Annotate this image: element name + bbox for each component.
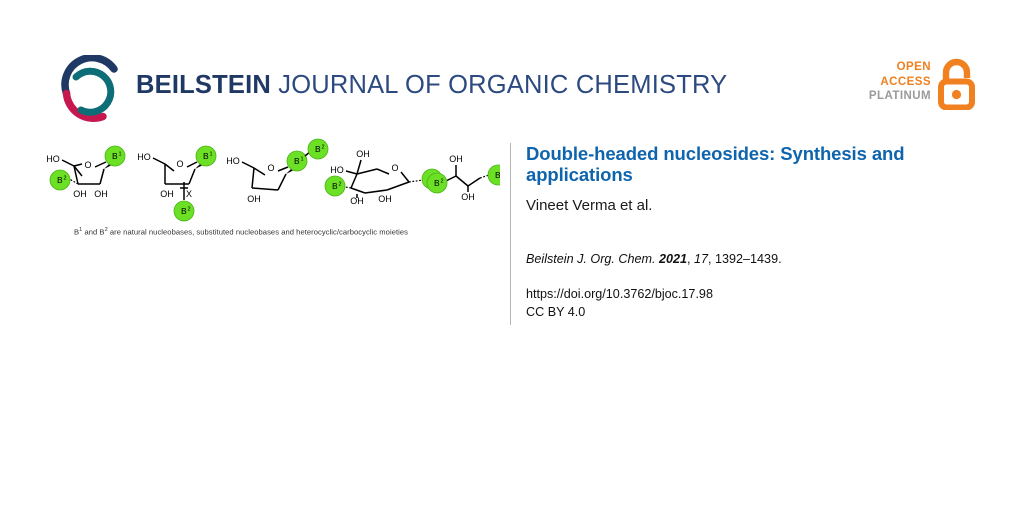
- svg-text:OH: OH: [94, 189, 108, 199]
- journal-title-light: JOURNAL OF ORGANIC CHEMISTRY: [271, 71, 727, 99]
- svg-text:2: 2: [339, 182, 342, 188]
- svg-text:OH: OH: [378, 194, 392, 204]
- svg-text:2: 2: [441, 179, 444, 185]
- svg-text:OH: OH: [160, 189, 174, 199]
- structure-ribose-2-3-double-headed: HO O OH OH B1 B2: [46, 146, 125, 199]
- graphical-abstract-caption: B1 and B2 are natural nucleobases, subst…: [74, 227, 504, 237]
- article-authors: Vineet Verma et al.: [526, 197, 986, 215]
- svg-text:2: 2: [188, 207, 191, 213]
- open-access-line-access: ACCESS: [869, 75, 931, 90]
- svg-text:OH: OH: [449, 154, 463, 164]
- article-title: Double-headed nucleosides: Synthesis and…: [526, 143, 986, 185]
- svg-text:2: 2: [322, 145, 325, 151]
- svg-text:HO: HO: [330, 165, 344, 175]
- svg-text:X: X: [186, 189, 192, 199]
- svg-text:B: B: [434, 178, 440, 188]
- article-meta: Double-headed nucleosides: Synthesis and…: [526, 143, 986, 334]
- svg-text:OH: OH: [356, 149, 370, 159]
- vertical-divider: [510, 143, 511, 325]
- citation-comma-1: ,: [687, 252, 691, 266]
- svg-text:B: B: [315, 144, 321, 154]
- svg-text:B: B: [112, 151, 118, 161]
- svg-text:B: B: [294, 156, 300, 166]
- open-access-badge: OPEN ACCESS PLATINUM: [872, 58, 977, 114]
- structure-pyranose-double-headed: OH HO O OH OH B2 B1: [325, 149, 442, 206]
- svg-text:B: B: [332, 181, 338, 191]
- svg-text:O: O: [84, 160, 91, 170]
- open-access-wordmark: OPEN ACCESS PLATINUM: [869, 60, 931, 104]
- article-doi-block: https://doi.org/10.3762/bjoc.17.98CC BY …: [526, 286, 986, 321]
- open-access-line-platinum: PLATINUM: [869, 89, 931, 104]
- svg-text:1: 1: [301, 157, 304, 163]
- open-access-line-open: OPEN: [869, 60, 931, 75]
- license-label: CC BY 4.0: [526, 304, 986, 322]
- svg-text:1: 1: [210, 152, 213, 158]
- svg-text:B: B: [203, 151, 209, 161]
- svg-text:O: O: [176, 159, 183, 169]
- svg-text:B: B: [181, 206, 187, 216]
- citation-volume: 17: [694, 252, 708, 266]
- citation-pages: 1392–1439.: [715, 252, 782, 266]
- svg-text:HO: HO: [226, 156, 240, 166]
- structure-acyclic-propanediol-double-headed: OH OH B2 B1: [427, 154, 500, 202]
- svg-text:HO: HO: [46, 154, 60, 164]
- journal-title-bold: BEILSTEIN: [136, 71, 271, 99]
- svg-text:HO: HO: [137, 152, 151, 162]
- citation-comma-2: ,: [708, 252, 712, 266]
- svg-text:OH: OH: [461, 192, 475, 202]
- svg-text:O: O: [391, 163, 398, 173]
- caption-mid: and B: [82, 228, 104, 237]
- svg-text:2: 2: [64, 176, 67, 182]
- article-citation: Beilstein J. Org. Chem. 2021, 17, 1392–1…: [526, 251, 986, 267]
- citation-year: 2021: [659, 252, 687, 266]
- structure-furanose-with-X-substituent: HO O OH X B1 B2: [137, 146, 216, 221]
- beilstein-spiral-logo: [56, 55, 128, 123]
- doi-link[interactable]: https://doi.org/10.3762/bjoc.17.98: [526, 286, 986, 304]
- svg-text:OH: OH: [73, 189, 87, 199]
- svg-text:B: B: [495, 170, 500, 180]
- journal-title: BEILSTEIN JOURNAL OF ORGANIC CHEMISTRY: [136, 71, 727, 100]
- open-padlock-icon: [935, 58, 977, 110]
- masthead: BEILSTEIN JOURNAL OF ORGANIC CHEMISTRY O…: [0, 0, 1024, 130]
- citation-journal: Beilstein J. Org. Chem.: [526, 252, 655, 266]
- svg-text:1: 1: [119, 152, 122, 158]
- caption-rest: are natural nucleobases, substituted nuc…: [108, 228, 408, 237]
- svg-text:B: B: [57, 175, 63, 185]
- structure-deoxyribose-geminal-B1-B2: HO O OH B1 B2: [226, 139, 328, 204]
- svg-text:O: O: [267, 163, 274, 173]
- svg-text:OH: OH: [247, 194, 261, 204]
